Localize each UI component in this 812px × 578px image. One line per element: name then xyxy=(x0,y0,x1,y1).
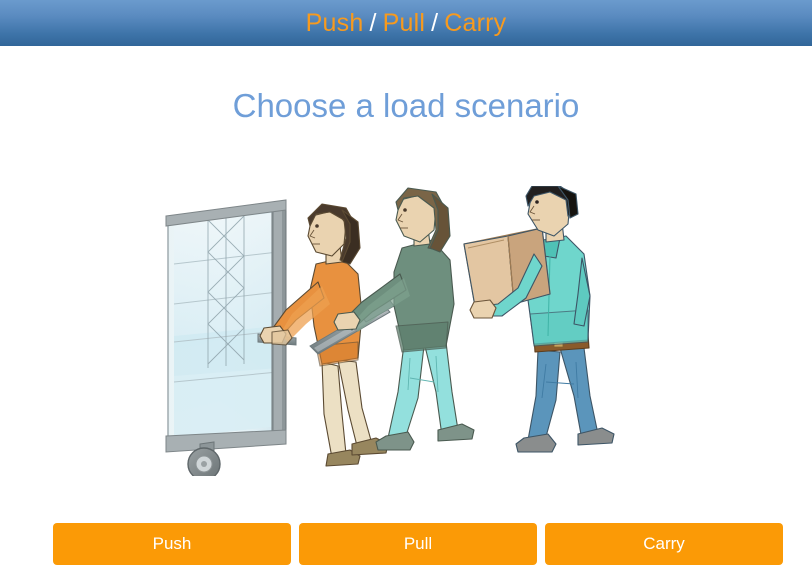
push-button[interactable]: Push xyxy=(53,523,291,565)
figure-carry-person xyxy=(464,186,614,452)
scenario-button-group: Push Pull Carry xyxy=(53,523,783,565)
carry-button[interactable]: Carry xyxy=(545,523,783,565)
app-title-separator-2: / xyxy=(431,9,438,37)
app-title: Push/Pull/Carry xyxy=(306,11,507,36)
app-title-word-push: Push xyxy=(306,9,364,37)
push-pull-carry-illustration xyxy=(146,186,666,476)
pull-button[interactable]: Pull xyxy=(299,523,537,565)
app-title-word-pull: Pull xyxy=(383,9,426,37)
figure-carry xyxy=(464,186,614,452)
app-header: Push/Pull/Carry xyxy=(0,0,812,46)
app-title-word-carry: Carry xyxy=(444,9,506,37)
figure-push xyxy=(166,200,388,476)
page-title: Choose a load scenario xyxy=(0,86,812,126)
app-title-separator-1: / xyxy=(369,9,376,37)
